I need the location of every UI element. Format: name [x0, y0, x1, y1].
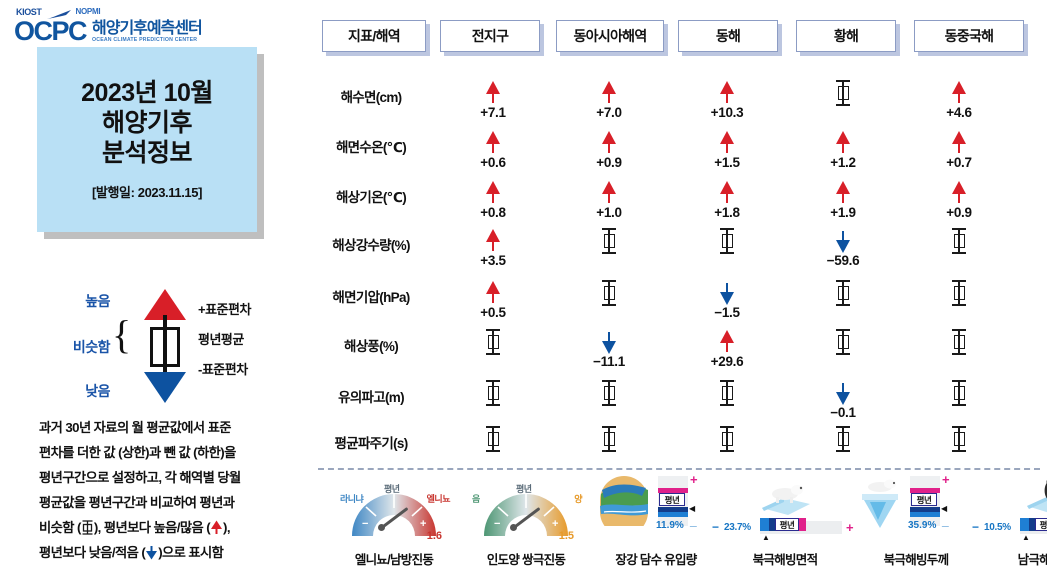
paragraph-line-2: 편차를 더한 값 (상한)과 뺀 값 (하한)을	[39, 440, 299, 465]
table-cell[interactable]	[438, 378, 548, 428]
table-cell[interactable]: +1.5	[672, 128, 782, 178]
table-header-label: 동해	[716, 26, 740, 46]
up-arrow-icon	[485, 280, 501, 306]
cell-trend-glyph	[601, 378, 617, 408]
table-cell[interactable]: +7.1	[438, 78, 548, 128]
bar-minus-sign: _	[942, 514, 949, 528]
cell-value: +1.5	[714, 156, 739, 170]
bar-percent: 35.9%	[908, 520, 936, 531]
table-row-label: 해상강수량(%)	[310, 232, 432, 256]
paragraph-line-5: 비슷함 ( ), 평년보다 높음/많음 ( ),	[39, 515, 299, 540]
table-header-label: 지표/해역	[348, 26, 400, 46]
cell-trend-glyph	[601, 78, 617, 108]
paragraph-line-4: 평균값을 평년구간과 비교하여 평년과	[39, 490, 299, 515]
table-cell[interactable]: +1.2	[788, 128, 898, 178]
neutral-range-icon	[719, 379, 735, 407]
title-line-3: 분석정보	[102, 138, 192, 168]
cell-trend-glyph	[601, 278, 617, 308]
table-header-label: 전지구	[472, 26, 509, 46]
cell-value: +1.0	[596, 206, 621, 220]
methodology-paragraph: 과거 30년 자료의 월 평균값에서 표준 편차를 더한 값 (상한)과 뺀 값…	[39, 415, 299, 565]
paragraph-line-6b: )으로 표시함	[158, 545, 223, 560]
section-divider	[318, 468, 1040, 470]
down-arrow-icon	[835, 228, 851, 254]
bar-segment-high	[799, 518, 806, 531]
table-header-region-4[interactable]: 황해	[796, 20, 896, 52]
up-arrow-icon	[951, 130, 967, 156]
cell-trend-glyph	[835, 226, 851, 256]
cell-value: −11.1	[593, 355, 625, 369]
table-cell[interactable]	[672, 424, 782, 474]
cell-value: +4.6	[946, 106, 971, 120]
gauge-label-right: 엘니뇨	[427, 492, 450, 505]
table-cell[interactable]: −59.6	[788, 226, 898, 276]
gauge-label-right: 양	[574, 492, 582, 505]
cell-value: +7.0	[596, 106, 621, 120]
neutral-range-icon	[835, 279, 851, 307]
table-header-region-3[interactable]: 동해	[678, 20, 778, 52]
up-arrow-icon	[485, 180, 501, 206]
gauge-value: 1.5	[559, 530, 574, 542]
cell-trend-glyph	[601, 424, 617, 454]
vertical-bar: 평년+_◀11.9%	[658, 476, 688, 532]
down-arrow-icon	[835, 380, 851, 406]
down-arrow-icon	[601, 329, 617, 355]
indicator-caption: 북극해빙면적	[710, 549, 860, 568]
cell-value: −1.5	[714, 306, 739, 320]
table-cell[interactable]	[554, 378, 664, 428]
gauge: 음평년양−+1.5	[474, 480, 578, 542]
neutral-range-icon	[951, 227, 967, 255]
title-line-2: 해양기후	[102, 108, 192, 138]
cell-value: −59.6	[827, 254, 860, 268]
cell-value: +1.9	[830, 206, 855, 220]
table-header-region-1[interactable]: 전지구	[440, 20, 540, 52]
cell-value: +0.9	[946, 206, 971, 220]
up-arrow-icon	[601, 180, 617, 206]
indicator-enso[interactable]: 라니냐평년엘니뇨−+1.6엘니뇨/남방진동	[328, 474, 460, 570]
up-arrow-icon	[601, 130, 617, 156]
iceberg-bear-icon	[856, 474, 904, 530]
table-cell[interactable]	[904, 327, 1014, 377]
cell-trend-glyph	[601, 327, 617, 357]
up-arrow-icon	[835, 180, 851, 206]
neutral-range-icon	[835, 79, 851, 107]
table-cell[interactable]: +0.7	[904, 128, 1014, 178]
bar-percent: 11.9%	[656, 520, 684, 531]
cell-trend-glyph	[835, 327, 851, 357]
neutral-range-icon	[835, 328, 851, 356]
table-cell[interactable]: +0.6	[438, 128, 548, 178]
table-cell[interactable]	[904, 226, 1014, 276]
table-cell[interactable]	[904, 424, 1014, 474]
cell-value: +0.5	[480, 306, 505, 320]
gauge-minus-sign: −	[362, 518, 368, 530]
up-arrow-icon	[951, 80, 967, 106]
table-cell[interactable]: +0.9	[904, 178, 1014, 228]
indicator-caption: 남극해빙면적	[970, 549, 1047, 568]
up-arrow-icon	[485, 80, 501, 106]
table-cell[interactable]	[904, 378, 1014, 428]
cell-trend-glyph	[719, 424, 735, 454]
legend-normal-mean: 평년평균	[198, 325, 251, 355]
up-arrow-icon	[485, 130, 501, 156]
cell-trend-glyph	[719, 278, 735, 308]
table-header-label: 동중국해	[945, 26, 994, 46]
cell-trend-glyph	[951, 378, 967, 408]
bar-pointer-icon: ▲	[1022, 533, 1030, 542]
bar-plus-sign: +	[942, 472, 950, 487]
gauge-plus-sign: +	[420, 518, 426, 530]
table-header-indicator[interactable]: 지표/해역	[322, 20, 426, 52]
cell-trend-glyph	[835, 128, 851, 158]
bar-pointer-icon: ◀	[941, 504, 947, 513]
table-cell[interactable]: +4.6	[904, 78, 1014, 128]
neutral-range-icon	[485, 328, 501, 356]
cell-trend-glyph	[485, 327, 501, 357]
neutral-range-icon	[951, 279, 967, 307]
bar-percent: 23.7%	[724, 522, 751, 533]
cell-trend-glyph	[485, 78, 501, 108]
horizontal-bar: −23.7%평년+▲	[710, 518, 860, 540]
table-cell[interactable]	[554, 278, 664, 328]
legend-upper-bound: +표준편차	[198, 295, 251, 325]
paragraph-line-5b: ), 평년보다 높음/많음 (	[94, 520, 210, 535]
gauge-plus-sign: +	[552, 518, 558, 530]
gauge-minus-sign: −	[494, 518, 500, 530]
cell-trend-glyph	[719, 378, 735, 408]
cell-value: +29.6	[711, 355, 744, 369]
legend-symbol-diagram	[136, 289, 194, 403]
bar-pointer-icon: ▲	[762, 533, 770, 542]
cell-value: +0.8	[480, 206, 505, 220]
paragraph-line-1: 과거 30년 자료의 월 평균값에서 표준	[39, 415, 299, 440]
river-basin-icon	[596, 474, 652, 530]
gauge-hub	[378, 524, 385, 531]
table-cell[interactable]: +10.3	[672, 78, 782, 128]
neutral-range-icon	[601, 425, 617, 453]
indicator-caption: 북극해빙두께	[850, 549, 982, 568]
cell-value: +7.1	[480, 106, 505, 120]
up-arrow-icon	[835, 130, 851, 156]
cell-value: −0.1	[830, 406, 855, 420]
table-row-label: 해상기온(℃)	[310, 184, 432, 208]
climate-indices-panel: 라니냐평년엘니뇨−+1.6엘니뇨/남방진동음평년양−+1.5인도양 쌍극진동평년…	[310, 474, 1047, 572]
indicator-antarctic-ice-area[interactable]: −10.5%평년+▲남극해빙면적	[970, 474, 1047, 570]
cell-trend-glyph	[719, 178, 735, 208]
inline-neutral-icon	[81, 518, 94, 533]
bar-normal-label: 평년	[775, 518, 799, 531]
table-cell[interactable]	[788, 278, 898, 328]
table-cell[interactable]: +29.6	[672, 327, 782, 377]
cell-trend-glyph	[835, 278, 851, 308]
indicator-iod[interactable]: 음평년양−+1.5인도양 쌍극진동	[460, 474, 592, 570]
neutral-range-icon	[485, 425, 501, 453]
gauge-label-left: 라니냐	[340, 492, 363, 505]
cell-value: +0.6	[480, 156, 505, 170]
table-cell[interactable]: −11.1	[554, 327, 664, 377]
cell-trend-glyph	[719, 327, 735, 357]
bar-pointer-icon: ◀	[689, 504, 695, 513]
cell-trend-glyph	[951, 226, 967, 256]
table-cell[interactable]	[788, 424, 898, 474]
cell-trend-glyph	[951, 128, 967, 158]
bar-segment-low	[658, 512, 688, 517]
cell-trend-glyph	[719, 128, 735, 158]
paragraph-line-3: 평년구간으로 설정하고, 각 해역별 당월	[39, 465, 299, 490]
cell-trend-glyph	[835, 78, 851, 108]
legend-lower-bound: -표준편차	[198, 355, 251, 385]
neutral-range-icon	[719, 227, 735, 255]
legend-left-labels: 높음 비슷함 낮음	[40, 287, 110, 405]
gauge-label-mid: 평년	[384, 482, 400, 495]
up-arrow-icon	[485, 228, 501, 254]
left-panel: KIOST NOPMI OCPC 해양기후예측센터 OCEAN CLIMATE …	[0, 0, 310, 572]
down-arrow-icon	[719, 280, 735, 306]
table-cell[interactable]	[788, 78, 898, 128]
center-name-en: OCEAN CLIMATE PREDICTION CENTER	[92, 37, 202, 43]
table-cell[interactable]: +1.8	[672, 178, 782, 228]
table-row-label: 평균파주기(s)	[310, 430, 432, 454]
gauge: 라니냐평년엘니뇨−+1.6	[342, 480, 446, 542]
neutral-range-icon	[951, 328, 967, 356]
table-cell[interactable]	[554, 424, 664, 474]
indicator-caption: 장강 담수 유입량	[590, 549, 722, 568]
cell-trend-glyph	[951, 278, 967, 308]
up-arrow-icon	[719, 80, 735, 106]
table-cell[interactable]: +0.8	[438, 178, 548, 228]
gauge-value: 1.6	[427, 530, 442, 542]
cell-trend-glyph	[601, 226, 617, 256]
cell-value: +0.9	[596, 156, 621, 170]
title-line-1: 2023년 10월	[81, 78, 213, 108]
inline-up-arrow-icon	[210, 518, 223, 533]
table-cell[interactable]: +1.9	[788, 178, 898, 228]
cell-trend-glyph	[485, 424, 501, 454]
bar-percent: 10.5%	[984, 522, 1011, 533]
indicator-caption: 인도양 쌍극진동	[460, 549, 592, 568]
bar-segment-low	[1020, 518, 1029, 531]
range-arrow-diagram-icon	[136, 289, 194, 403]
horizontal-bar: −10.5%평년+▲	[970, 518, 1047, 540]
table-header-region-5[interactable]: 동중국해	[914, 20, 1024, 52]
bar-segment-low	[760, 518, 769, 531]
indicator-arctic-ice-area[interactable]: −23.7%평년+▲북극해빙면적	[710, 474, 860, 570]
table-cell[interactable]	[438, 424, 548, 474]
table-header-label: 황해	[834, 26, 858, 46]
table-row-label: 유의파고(m)	[310, 384, 432, 408]
nopmi-wordmark: NOPMI	[76, 7, 101, 16]
cell-trend-glyph	[951, 178, 967, 208]
cell-trend-glyph	[951, 78, 967, 108]
gauge-hub	[510, 524, 517, 531]
table-cell[interactable]: −1.5	[672, 278, 782, 328]
paragraph-line-6a: 평년보다 낮음/적음 (	[39, 545, 145, 560]
indicator-table: 지표/해역전지구동아시아해역동해황해동중국해 해수면(cm)해면수온(℃)해상기…	[310, 0, 1047, 470]
indicator-arctic-ice-thickness[interactable]: 평년+_◀35.9%북극해빙두께	[850, 474, 982, 570]
table-row-label: 해면기압(hPa)	[310, 284, 432, 308]
inline-down-arrow-icon	[145, 543, 158, 558]
table-header-region-2[interactable]: 동아시아해역	[556, 20, 664, 52]
legend-brace: {	[112, 315, 131, 355]
polar-bear-icon	[754, 474, 816, 516]
table-cell[interactable]: +1.0	[554, 178, 664, 228]
up-arrow-icon	[719, 130, 735, 156]
vertical-bar: 평년+_◀35.9%	[910, 476, 940, 532]
cell-trend-glyph	[951, 424, 967, 454]
legend-label-high: 높음	[40, 291, 110, 311]
legend-label-similar: 비슷함	[40, 337, 110, 357]
table-cell[interactable]: +0.5	[438, 278, 548, 328]
table-header-label: 동아시아해역	[573, 26, 646, 46]
indicator-changjiang[interactable]: 평년+_◀11.9%장강 담수 유입량	[590, 474, 722, 570]
bar-plus-sign: +	[690, 472, 698, 487]
legend-right-labels: +표준편차 평년평균 -표준편차	[198, 295, 251, 385]
up-arrow-icon	[951, 180, 967, 206]
cell-trend-glyph	[719, 226, 735, 256]
table-cell[interactable]	[788, 327, 898, 377]
neutral-range-icon	[601, 279, 617, 307]
ocpc-logo: KIOST NOPMI OCPC 해양기후예측센터 OCEAN CLIMATE …	[14, 6, 204, 46]
cell-trend-glyph	[835, 378, 851, 408]
table-cell[interactable]: +0.9	[554, 128, 664, 178]
penguin-icon	[1019, 474, 1047, 516]
cell-trend-glyph	[485, 378, 501, 408]
neutral-range-icon	[835, 425, 851, 453]
table-row-label: 해면수온(℃)	[310, 134, 432, 158]
gauge-label-mid: 평년	[516, 482, 532, 495]
cell-trend-glyph	[719, 78, 735, 108]
table-cell[interactable]	[904, 278, 1014, 328]
bar-normal-label: 평년	[659, 493, 685, 506]
table-cell[interactable]: +3.5	[438, 226, 548, 276]
table-cell[interactable]: +7.0	[554, 78, 664, 128]
table-cell[interactable]	[672, 378, 782, 428]
bar-normal-label: 평년	[911, 493, 937, 506]
cell-value: +3.5	[480, 254, 505, 268]
title-card: 2023년 10월 해양기후 분석정보 [발행일: 2023.11.15]	[37, 47, 257, 232]
legend-label-low: 낮음	[40, 381, 110, 401]
neutral-range-icon	[951, 425, 967, 453]
cell-trend-glyph	[485, 226, 501, 256]
bar-minus-sign: −	[712, 520, 719, 534]
publish-date: [발행일: 2023.11.15]	[92, 182, 202, 201]
center-name-ko: 해양기후예측센터	[92, 20, 202, 37]
ocpc-acronym: OCPC	[14, 18, 86, 44]
table-row-label: 해수면(cm)	[310, 84, 432, 108]
cell-trend-glyph	[951, 327, 967, 357]
swoosh-icon	[46, 7, 72, 17]
bar-minus-sign: _	[690, 514, 697, 528]
bar-normal-label: 평년	[1035, 518, 1047, 531]
up-arrow-icon	[719, 180, 735, 206]
neutral-range-icon	[719, 425, 735, 453]
cell-value: +1.8	[714, 206, 739, 220]
neutral-range-icon	[485, 379, 501, 407]
up-arrow-icon	[601, 80, 617, 106]
cell-value: +1.2	[830, 156, 855, 170]
logo-main-row: OCPC 해양기후예측센터 OCEAN CLIMATE PREDICTION C…	[14, 18, 204, 44]
cell-trend-glyph	[601, 178, 617, 208]
cell-trend-glyph	[601, 128, 617, 158]
bar-segment-low	[910, 512, 940, 517]
table-cell[interactable]	[672, 226, 782, 276]
symbol-legend: 높음 비슷함 낮음 { +표준편차 평년평균 -표준편차	[40, 287, 295, 405]
cell-value: +0.7	[946, 156, 971, 170]
neutral-range-icon	[601, 379, 617, 407]
cell-value: +10.3	[711, 106, 744, 120]
cell-trend-glyph	[485, 178, 501, 208]
indicator-caption: 엘니뇨/남방진동	[328, 549, 460, 568]
paragraph-line-6: 평년보다 낮음/적음 ( )으로 표시함	[39, 540, 299, 565]
cell-trend-glyph	[835, 424, 851, 454]
cell-trend-glyph	[485, 278, 501, 308]
kiost-wordmark: KIOST	[16, 7, 42, 17]
paragraph-line-5a: 비슷함 (	[39, 520, 81, 535]
table-cell[interactable]: −0.1	[788, 378, 898, 428]
paragraph-line-5c: ),	[223, 520, 230, 535]
cell-trend-glyph	[485, 128, 501, 158]
table-cell[interactable]	[438, 327, 548, 377]
bar-minus-sign: −	[972, 520, 979, 534]
gauge-label-left: 음	[472, 492, 480, 505]
table-cell[interactable]	[554, 226, 664, 276]
up-arrow-icon	[719, 329, 735, 355]
cell-trend-glyph	[835, 178, 851, 208]
neutral-range-icon	[951, 379, 967, 407]
neutral-range-icon	[601, 227, 617, 255]
table-row-label: 해상풍(%)	[310, 333, 432, 357]
